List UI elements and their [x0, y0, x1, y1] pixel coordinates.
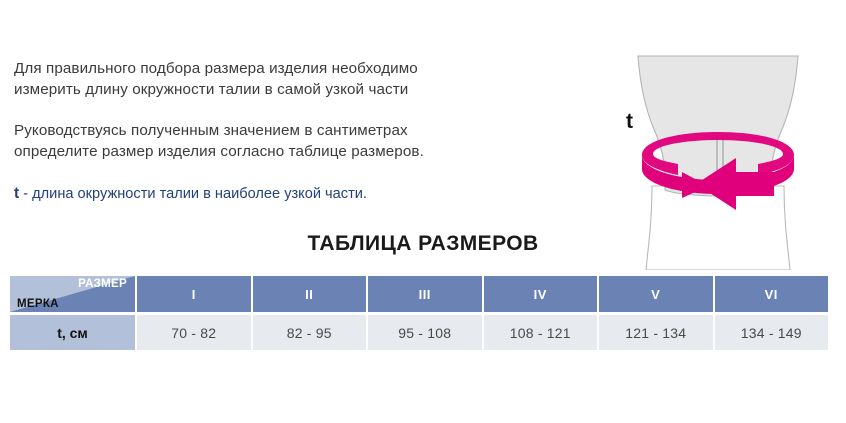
cell-size-3: 95 - 108	[368, 315, 482, 350]
measurement-legend: t - длина окружности талии в наиболее уз…	[14, 184, 514, 204]
cell-size-1: 70 - 82	[137, 315, 251, 350]
intro-paragraph-1-line-1: Для правильного подбора размера изделия …	[14, 58, 514, 79]
intro-text-block: Для правильного подбора размера изделия …	[14, 58, 514, 204]
header-label-razmer: РАЗМЕР	[78, 278, 127, 290]
size-header-1: I	[137, 276, 251, 312]
cell-size-5: 121 - 134	[599, 315, 713, 350]
size-chart-head: РАЗМЕР МЕРКА I II III IV V VI	[10, 276, 828, 312]
size-chart-body: t, см 70 - 82 82 - 95 95 - 108 108 - 121…	[10, 315, 828, 350]
size-header-2: II	[253, 276, 367, 312]
table-header-row: РАЗМЕР МЕРКА I II III IV V VI	[10, 276, 828, 312]
torso-figure-svg	[590, 38, 846, 270]
cell-size-6: 134 - 149	[715, 315, 829, 350]
header-label-merka: МЕРКА	[17, 298, 59, 310]
intro-paragraph-1: Для правильного подбора размера изделия …	[14, 58, 514, 100]
cell-size-2: 82 - 95	[253, 315, 367, 350]
row-label-waist: t, см	[10, 315, 135, 350]
cell-size-4: 108 - 121	[484, 315, 598, 350]
waist-measurement-illustration: t	[590, 38, 846, 270]
size-header-3: III	[368, 276, 482, 312]
measure-label-t: t	[626, 110, 633, 134]
size-header-6: VI	[715, 276, 829, 312]
lower-body-shape	[646, 186, 790, 270]
size-chart-table: РАЗМЕР МЕРКА I II III IV V VI t, см 70 -…	[8, 273, 830, 353]
legend-description: - длина окружности талии в наиболее узко…	[19, 186, 367, 202]
intro-paragraph-2: Руководствуясь полученным значением в са…	[14, 120, 514, 162]
table-row: t, см 70 - 82 82 - 95 95 - 108 108 - 121…	[10, 315, 828, 350]
intro-paragraph-1-line-2: измерить длину окружности талии в самой …	[14, 79, 514, 100]
header-corner-cell: РАЗМЕР МЕРКА	[10, 276, 135, 312]
size-header-4: IV	[484, 276, 598, 312]
intro-paragraph-2-line-2: определите размер изделия согласно табли…	[14, 141, 514, 162]
intro-paragraph-2-line-1: Руководствуясь полученным значением в са…	[14, 120, 514, 141]
size-header-5: V	[599, 276, 713, 312]
